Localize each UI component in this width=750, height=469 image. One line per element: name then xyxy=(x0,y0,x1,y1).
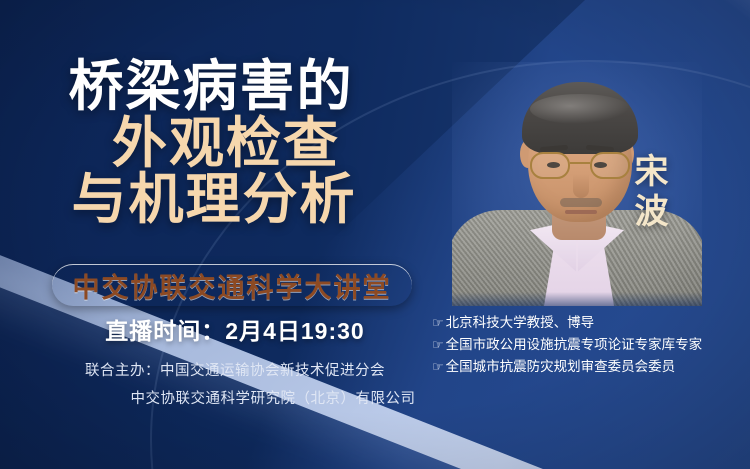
title-line-3: 与机理分析 xyxy=(0,171,430,228)
live-time: 直播时间：2月4日19:30 xyxy=(0,312,470,346)
credential-text: 北京科技大学教授、博导 xyxy=(446,312,595,334)
webinar-poster: 桥梁病害的 外观检查 与机理分析 中交协联交通科学大讲堂 直播时间：2月4日19… xyxy=(0,0,750,469)
credential-row: ☞ 全国市政公用设施抗震专项论证专家库专家 xyxy=(432,334,742,356)
pointing-hand-icon: ☞ xyxy=(432,334,444,355)
series-badge-label: 中交协联交通科学大讲堂 xyxy=(73,266,392,305)
speaker-credentials: ☞ 北京科技大学教授、博导 ☞ 全国市政公用设施抗震专项论证专家库专家 ☞ 全国… xyxy=(432,312,742,378)
credential-row: ☞ 北京科技大学教授、博导 xyxy=(432,312,742,334)
series-badge: 中交协联交通科学大讲堂 xyxy=(52,264,412,306)
speaker-name-char-2: 波 xyxy=(630,192,674,232)
speaker-name-char-1: 宋 xyxy=(630,152,674,192)
credential-text: 全国市政公用设施抗震专项论证专家库专家 xyxy=(446,334,703,356)
organizers: 联合主办：中国交通运输协会新技术促进分会 中交协联交通科学研究院（北京）有限公司 xyxy=(0,358,470,413)
title-line-2: 外观检查 xyxy=(22,115,430,172)
credential-text: 全国城市抗震防灾规划审查委员会委员 xyxy=(446,356,676,378)
organizer-line-1: 联合主办：中国交通运输协会新技术促进分会 xyxy=(85,363,385,379)
speaker-name: 宋 波 xyxy=(630,152,674,232)
pointing-hand-icon: ☞ xyxy=(432,356,444,377)
organizer-line-2: 中交协联交通科学研究院（北京）有限公司 xyxy=(0,386,470,414)
pointing-hand-icon: ☞ xyxy=(432,312,444,333)
title-line-1: 桥梁病害的 xyxy=(0,58,430,115)
credential-row: ☞ 全国城市抗震防灾规划审查委员会委员 xyxy=(432,356,742,378)
page-title: 桥梁病害的 外观检查 与机理分析 xyxy=(0,58,430,228)
